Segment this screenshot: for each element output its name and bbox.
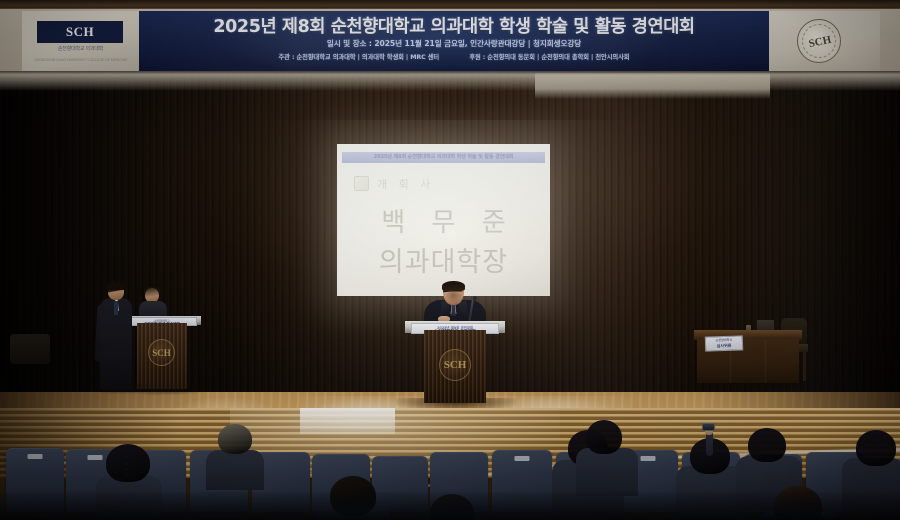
banner-left-logo-panel: SCH 순천향대학교 의과대학 SOONCHUNHYANG UNIVERSITY… (22, 11, 139, 71)
sch-logo-box: SCH (37, 21, 123, 43)
attendee-left-dark-shoulders (96, 476, 162, 520)
banner-drop-shadow (0, 71, 900, 75)
attendee-left-grey-hair-head (218, 424, 252, 454)
left-podium: SCH (137, 323, 187, 389)
standing-person-hair (107, 282, 125, 290)
audience-seat (6, 448, 64, 512)
banner-host-line: 주관 : 순천향대학교 의과대학 | 의과대학 학생회 | MRC 센터 후원 … (139, 52, 769, 61)
event-banner: SCH 순천향대학교 의과대학 SOONCHUNHYANG UNIVERSITY… (0, 9, 900, 73)
microphone-head-icon (473, 296, 477, 301)
projection-screen: 2025년 제8회 순천향대학교 의과대학 학생 학술 및 활동 경연대회 개 … (337, 144, 550, 296)
slide-header-bar: 2025년 제8회 순천향대학교 의과대학 학생 학술 및 활동 경연대회 (342, 152, 545, 163)
banner-sponsor-text: 후원 : 순천향의대 동문회 | 순천향의대 총학회 | 천안시의사회 (469, 54, 629, 61)
banner-blue-field: 2025년 제8회 순천향대학교 의과대학 학생 학술 및 활동 경연대회 일시… (139, 11, 769, 71)
slide-header-title: 2025년 제8회 순천향대학교 의과대학 학생 학술 및 활동 경연대회 (342, 153, 545, 160)
seat-number-tag (28, 454, 43, 459)
seat-number-tag (88, 455, 103, 460)
standing-person-tie (114, 301, 118, 315)
audience-seat (492, 450, 552, 512)
center-podium: SCH (424, 330, 486, 403)
sch-logo-subtitle-english: SOONCHUNHYANG UNIVERSITY COLLEGE OF MEDI… (32, 58, 130, 63)
smartphone-icon (702, 423, 715, 431)
attendee-bottom-right-head (774, 486, 822, 520)
banner-right-seal-panel: SCH (769, 11, 880, 71)
seat-number-tag (515, 456, 530, 461)
university-seal-icon: SCH (797, 19, 841, 63)
speaker-hair (442, 281, 465, 291)
slide-logo-icon (354, 176, 369, 191)
attendee-long-hair-shoulders (576, 448, 638, 496)
sch-wordmark: SCH (66, 24, 94, 40)
attendee-left-grey-hair-shoulders (206, 450, 264, 490)
slide-speaker-name: 백 무 준 (337, 202, 550, 239)
banner-board-tail-center (535, 73, 770, 99)
slide-speaker-role: 의과대학장 (337, 240, 550, 279)
rear-wall-light-patch (300, 408, 395, 434)
seat-number-tag (641, 456, 656, 461)
attendee-long-hair-head (586, 420, 622, 454)
center-podium-emblem-icon: SCH (439, 349, 471, 381)
stage-chair-far-left (10, 334, 50, 364)
judge-name-card-line2: 심사위원 (706, 342, 742, 349)
left-podium-emblem-icon: SCH (148, 339, 175, 366)
auditorium-screenshot: SCH 순천향대학교 의과대학 SOONCHUNHYANG UNIVERSITY… (0, 0, 900, 520)
attendee-center-front-head (330, 476, 376, 516)
slide-section-label: 개 회 사 (377, 176, 434, 192)
attendee-left-dark-head (106, 444, 150, 482)
sch-logo-subtitle: 순천향대학교 의과대학 (28, 46, 133, 53)
seal-monogram: SCH (806, 30, 834, 55)
banner-datetime-location: 일시 및 장소 : 2025년 11월 21일 금요일, 인간사랑관대강당 | … (139, 38, 769, 49)
banner-host-text: 주관 : 순천향대학교 의과대학 | 의과대학 학생회 | MRC 센터 (278, 54, 439, 61)
banner-title: 2025년 제8회 순천향대학교 의과대학 학생 학술 및 활동 경연대회 (139, 13, 769, 38)
judge-name-card: 순천향대학교 심사위원 (705, 335, 744, 351)
right-chair-leg-back (803, 351, 806, 381)
speaker-glasses-icon (445, 291, 462, 295)
attendee-right-second-head (748, 428, 786, 462)
attendee-right-edge-shoulders (842, 458, 900, 514)
attendee-right-edge-head (856, 430, 896, 466)
